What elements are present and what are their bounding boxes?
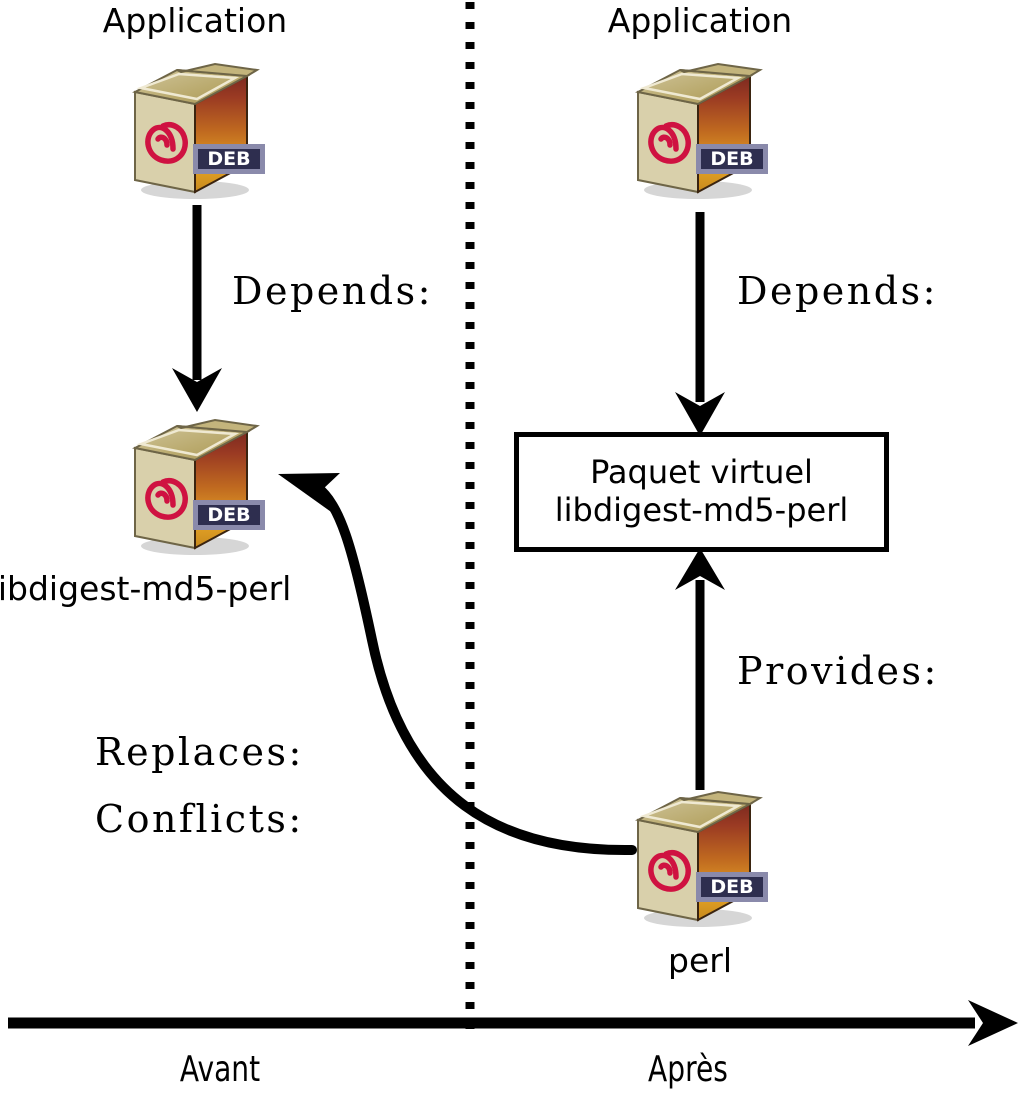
conflicts-label: Conflicts:	[95, 800, 304, 838]
deb-badge: DEB	[193, 144, 265, 174]
depends-label-before: Depends:	[232, 272, 433, 310]
package-icon-app-after: DEB	[620, 52, 780, 202]
timeline-label-before: Avant	[180, 1052, 260, 1088]
provides-arrow	[675, 548, 725, 790]
package-icon-perl: DEB	[620, 780, 780, 930]
perl-package-label: perl	[668, 944, 732, 977]
time-axis	[8, 1000, 1018, 1046]
replaces-label: Replaces:	[95, 733, 304, 771]
depends-label-after: Depends:	[737, 272, 938, 310]
svg-text:DEB: DEB	[207, 148, 250, 170]
virtual-package-box: Paquet virtuel libdigest-md5-perl	[514, 432, 889, 552]
app-label-after: Application	[608, 4, 792, 37]
depends-arrow-before	[172, 205, 222, 412]
deb-badge: DEB	[696, 144, 768, 174]
diagram-canvas: DEB DEB	[0, 0, 1024, 1094]
depends-arrow-after	[675, 212, 725, 436]
package-icon-app-before: DEB	[117, 52, 277, 202]
svg-text:DEB: DEB	[710, 148, 753, 170]
timeline-label-after: Après	[648, 1052, 728, 1088]
app-label-before: Application	[103, 4, 287, 37]
provides-label: Provides:	[737, 652, 939, 690]
deb-badge: DEB	[696, 872, 768, 902]
virtual-package-line1: Paquet virtuel	[590, 454, 813, 492]
libdigest-package-label: libdigest-md5-perl	[0, 572, 291, 605]
virtual-package-line2: libdigest-md5-perl	[555, 492, 849, 530]
svg-text:DEB: DEB	[710, 876, 753, 898]
deb-badge: DEB	[193, 500, 265, 530]
svg-text:DEB: DEB	[207, 504, 250, 526]
package-icon-libdigest-before: DEB	[117, 408, 277, 558]
